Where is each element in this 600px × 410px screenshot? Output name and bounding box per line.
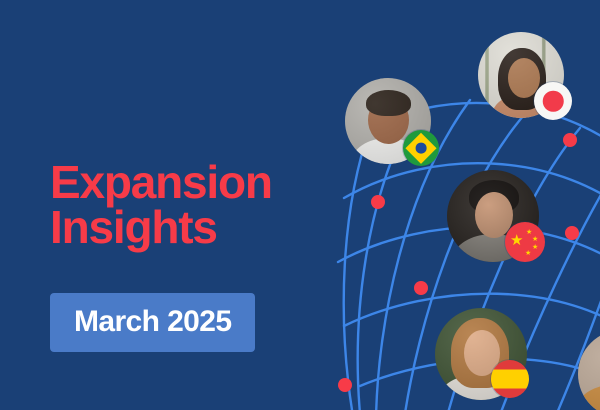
japan-flag-icon xyxy=(534,82,572,120)
china-flag-icon: ★ ★ ★ ★ ★ xyxy=(505,222,545,262)
page-title: Expansion Insights xyxy=(50,160,350,250)
flag-star-small: ★ xyxy=(532,244,538,251)
photo-shading xyxy=(578,330,600,410)
globe-node-dot xyxy=(565,226,579,240)
globe-node-dot xyxy=(414,281,428,295)
flag-star-small: ★ xyxy=(525,250,531,257)
globe-node-dot xyxy=(371,195,385,209)
avatar-brazil[interactable] xyxy=(345,78,445,178)
flag-orb xyxy=(416,143,427,154)
avatar-china[interactable]: ★ ★ ★ ★ ★ xyxy=(447,170,551,274)
flag-sun-disc xyxy=(543,91,564,112)
flag-star-large: ★ xyxy=(510,233,523,248)
globe-node-dot xyxy=(338,378,352,392)
text-panel: Expansion Insights March 2025 xyxy=(50,160,350,352)
spain-flag-icon xyxy=(491,360,529,398)
globe-node-dot xyxy=(563,133,577,147)
date-badge-button[interactable]: March 2025 xyxy=(50,293,255,352)
flag-star-small: ★ xyxy=(526,229,532,236)
expansion-insights-banner: ★ ★ ★ ★ ★ Expansion Insights March 2025 xyxy=(0,0,600,410)
avatar-spain[interactable] xyxy=(435,308,539,410)
avatar-edge[interactable] xyxy=(578,330,600,410)
brazil-flag-icon xyxy=(403,130,439,166)
avatar-japan[interactable] xyxy=(478,32,578,132)
flag-star-small: ★ xyxy=(532,236,538,243)
avatar-photo xyxy=(578,330,600,410)
